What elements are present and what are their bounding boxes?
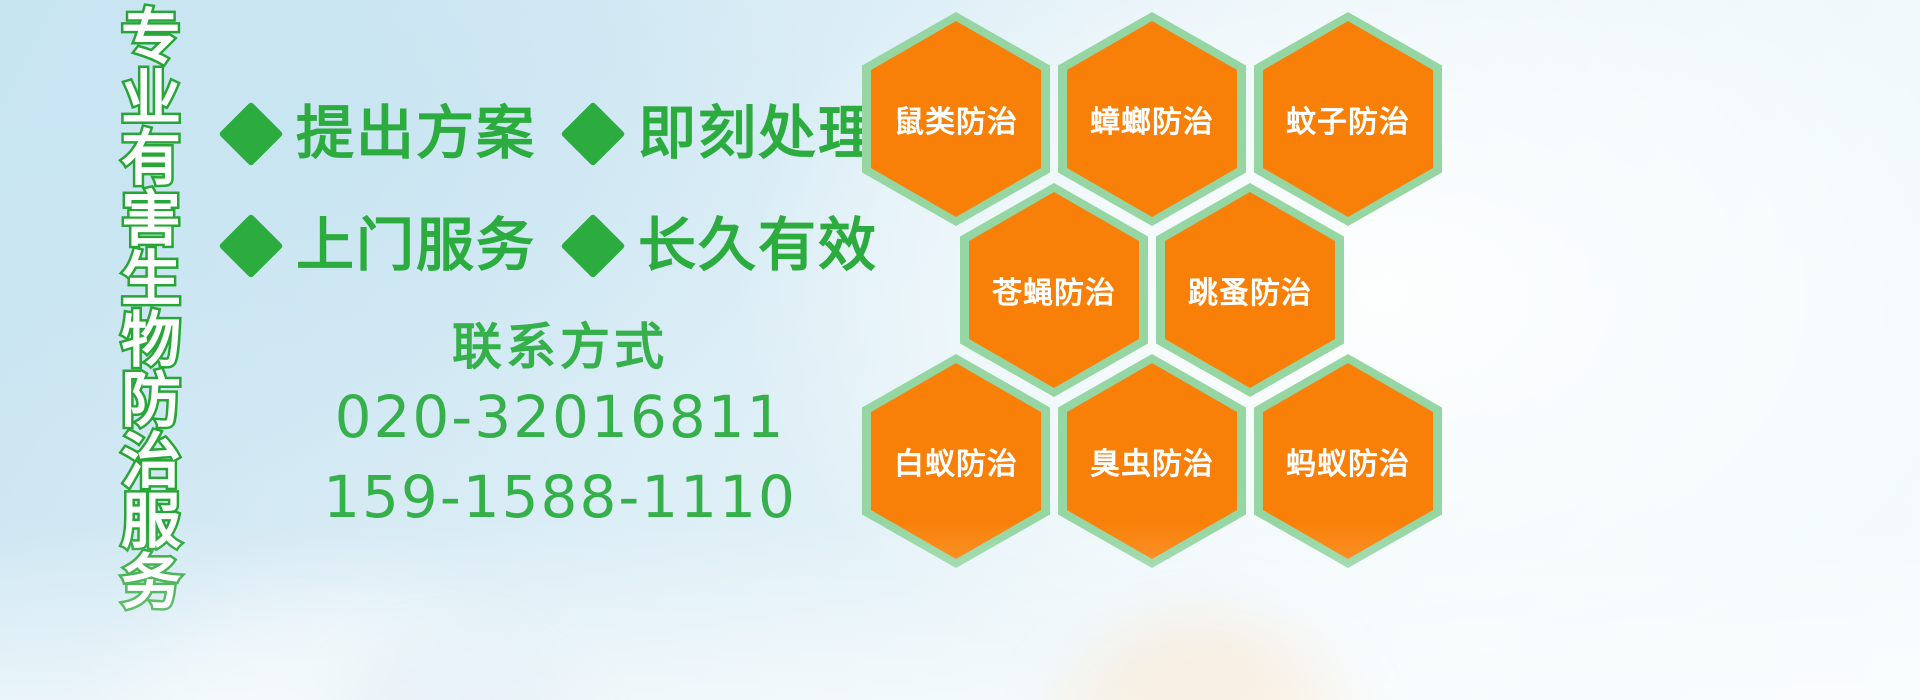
headline-char: 务 (121, 553, 181, 614)
feature-label: 即刻处理 (638, 105, 878, 163)
hex-label: 苍蝇防治 (992, 268, 1116, 312)
diamond-icon (218, 213, 283, 278)
feature-label: 上门服务 (296, 217, 536, 275)
headline-char: 害 (121, 190, 181, 251)
vertical-headline: 专 业 有 害 生 物 防 治 服 务 (108, 8, 194, 556)
hex-label: 臭虫防治 (1090, 439, 1214, 483)
contact-block: 联系方式 020-32016811 159-1588-1110 (300, 318, 820, 537)
headline-char: 防 (121, 371, 181, 432)
feature-item-long-lasting-effect: 长久有效 (570, 217, 878, 275)
hex-label: 蚂蚁防治 (1286, 439, 1410, 483)
phone-number-mobile[interactable]: 159-1588-1110 (300, 457, 820, 537)
promo-banner: 专 业 有 害 生 物 防 治 服 务 提出方案 即刻处理 上门服务 (0, 0, 1920, 700)
headline-char: 有 (121, 129, 181, 190)
background-glow-left (120, 590, 540, 700)
hex-label: 蚊子防治 (1286, 97, 1410, 141)
phone-number-landline[interactable]: 020-32016811 (300, 377, 820, 457)
diamond-icon (560, 101, 625, 166)
hex-cell-ant-control[interactable]: 蚂蚁防治 (1254, 354, 1442, 568)
feature-item-propose-plan: 提出方案 (228, 105, 536, 163)
headline-char: 治 (121, 432, 181, 493)
headline-char: 专 (121, 8, 181, 69)
feature-label: 提出方案 (296, 105, 536, 163)
headline-char: 物 (121, 311, 181, 372)
diamond-icon (560, 213, 625, 278)
feature-item-door-to-door-service: 上门服务 (228, 217, 536, 275)
hex-label: 蟑螂防治 (1090, 97, 1214, 141)
feature-row: 提出方案 即刻处理 (228, 78, 868, 190)
feature-item-immediate-handling: 即刻处理 (570, 105, 878, 163)
background-glow-mid (320, 650, 580, 700)
background-glow-orange (1050, 630, 1350, 700)
hex-cell-termite-control[interactable]: 白蚁防治 (862, 354, 1050, 568)
feature-row: 上门服务 长久有效 (228, 190, 868, 302)
hex-label: 鼠类防治 (894, 97, 1018, 141)
diamond-icon (218, 101, 283, 166)
feature-list: 提出方案 即刻处理 上门服务 长久有效 (228, 78, 868, 302)
feature-label: 长久有效 (638, 217, 878, 275)
headline-char: 生 (121, 250, 181, 311)
hex-cell-bedbug-control[interactable]: 臭虫防治 (1058, 354, 1246, 568)
contact-title: 联系方式 (300, 318, 820, 377)
service-hex-grid: 鼠类防治 蟑螂防治 蚊子防治 苍蝇防治 跳蚤防治 (862, 4, 1462, 544)
headline-char: 服 (121, 492, 181, 553)
headline-char: 业 (121, 69, 181, 130)
hex-label: 跳蚤防治 (1188, 268, 1312, 312)
hex-label: 白蚁防治 (894, 439, 1018, 483)
